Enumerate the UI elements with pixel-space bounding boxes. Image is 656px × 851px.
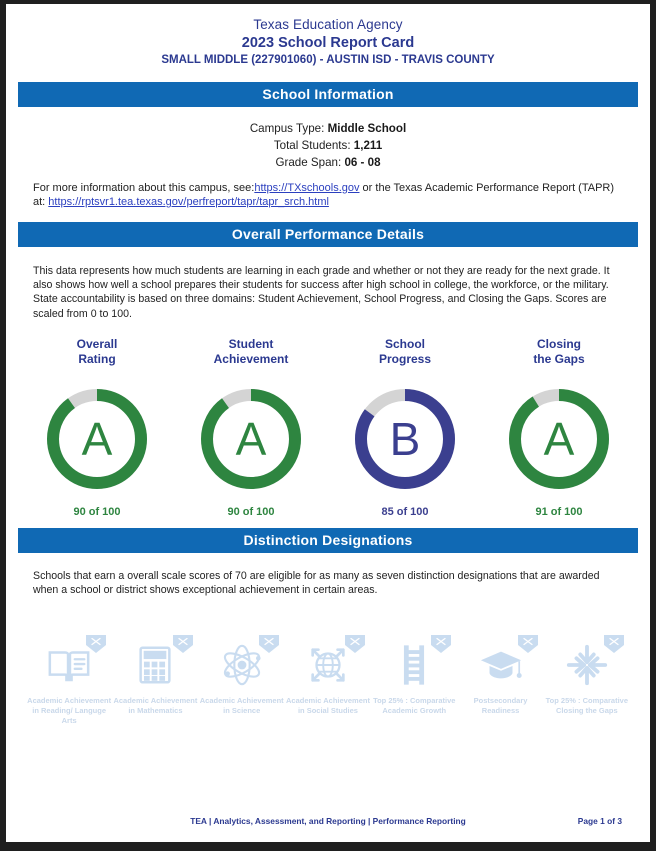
total-students-row: Total Students: 1,211 (6, 137, 650, 154)
gauge-donut: B (355, 389, 455, 489)
footer-page-number: Page 1 of 3 (578, 816, 622, 826)
gauge-label-line1: Student (174, 337, 328, 352)
ribbon-badge-icon (86, 635, 106, 662)
gauge-grade-letter: A (201, 389, 301, 489)
graduation-cap-icon (478, 642, 524, 688)
distinction-badge: Academic Achievement in Reading/ Languge… (26, 637, 112, 726)
gauge-label-line2: the Gaps (482, 352, 636, 367)
gauge-label-line1: Overall (20, 337, 174, 352)
arrows-inward-icon (564, 642, 610, 688)
total-students-label: Total Students: (274, 139, 351, 152)
distinction-badge: Postsecondary Readiness (457, 637, 543, 726)
ribbon-badge-icon (431, 635, 451, 662)
more-info-prefix: For more information about this campus, … (33, 182, 254, 194)
badge-caption: Academic Achievement in Mathematics (112, 696, 198, 716)
section-header-school-information: School Information (18, 82, 638, 107)
ribbon-badge-icon (173, 635, 193, 662)
ribbon-badge-icon (518, 635, 538, 662)
gauge-2: StudentAchievementA90 of 100 (174, 337, 328, 518)
gauge-label-line2: Rating (20, 352, 174, 367)
gauge-donut: A (47, 389, 147, 489)
gauge-4: Closingthe GapsA91 of 100 (482, 337, 636, 518)
page-footer: TEA | Analytics, Assessment, and Reporti… (6, 816, 650, 830)
badge-caption: Academic Achievement in Reading/ Languge… (26, 696, 112, 726)
distinction-badge: Academic Achievement in Social Studies (285, 637, 371, 726)
globe-arrows-icon (305, 642, 351, 688)
footer-attribution: TEA | Analytics, Assessment, and Reporti… (6, 816, 650, 826)
ribbon-badge-icon (259, 635, 279, 662)
badge-icon-wrap (457, 637, 543, 693)
gauge-label-line2: Progress (328, 352, 482, 367)
gauge-donut: A (509, 389, 609, 489)
performance-gauges: OverallRatingA90 of 100StudentAchievemen… (6, 337, 650, 518)
badge-icon-wrap (285, 637, 371, 693)
gauge-score-text: 91 of 100 (482, 506, 636, 518)
badge-icon-wrap (26, 637, 112, 693)
txschools-link[interactable]: https://TXschools.gov (254, 182, 359, 194)
campus-type-value: Middle School (328, 122, 407, 135)
gauge-label-line1: Closing (482, 337, 636, 352)
overall-performance-description: This data represents how much students a… (33, 264, 623, 321)
gauge-grade-letter: B (355, 389, 455, 489)
gauge-label-line2: Achievement (174, 352, 328, 367)
ribbon-badge-icon (604, 635, 624, 662)
gauge-score-text: 85 of 100 (328, 506, 482, 518)
atom-icon (219, 642, 265, 688)
page-title: 2023 School Report Card (6, 34, 650, 52)
section-header-overall-performance: Overall Performance Details (18, 222, 638, 247)
distinction-badge-row: Academic Achievement in Reading/ Languge… (6, 637, 650, 726)
badge-caption: Top 25% : Comparative Academic Growth (371, 696, 457, 716)
distinction-description: Schools that earn a overall scale scores… (33, 569, 623, 597)
more-information-text: For more information about this campus, … (33, 181, 623, 209)
gauge-score-text: 90 of 100 (20, 506, 174, 518)
gauge-score-text: 90 of 100 (174, 506, 328, 518)
distinction-badge: Top 25% : Comparative Closing the Gaps (544, 637, 630, 726)
gauge-label: StudentAchievement (174, 337, 328, 369)
school-information-values: Campus Type: Middle School Total Student… (6, 120, 650, 171)
badge-caption: Top 25% : Comparative Closing the Gaps (544, 696, 630, 716)
badge-caption: Academic Achievement in Science (199, 696, 285, 716)
campus-subtitle: SMALL MIDDLE (227901060) - AUSTIN ISD - … (6, 53, 650, 68)
gauge-label: SchoolProgress (328, 337, 482, 369)
badge-icon-wrap (112, 637, 198, 693)
gauge-3: SchoolProgressB85 of 100 (328, 337, 482, 518)
gauge-donut: A (201, 389, 301, 489)
grade-span-row: Grade Span: 06 - 08 (6, 154, 650, 171)
campus-type-label: Campus Type: (250, 122, 325, 135)
badge-icon-wrap (371, 637, 457, 693)
section-header-distinction-designations: Distinction Designations (18, 528, 638, 553)
gauge-grade-letter: A (509, 389, 609, 489)
badge-icon-wrap (544, 637, 630, 693)
gauge-label: Closingthe Gaps (482, 337, 636, 369)
calculator-icon (132, 642, 178, 688)
open-book-icon (46, 642, 92, 688)
tapr-link[interactable]: https://rptsvr1.tea.texas.gov/perfreport… (48, 196, 329, 208)
document-title-block: Texas Education Agency 2023 School Repor… (6, 4, 650, 68)
grade-span-label: Grade Span: (275, 156, 341, 169)
badge-icon-wrap (199, 637, 285, 693)
gauge-label: OverallRating (20, 337, 174, 369)
ribbon-badge-icon (345, 635, 365, 662)
agency-name: Texas Education Agency (6, 16, 650, 33)
gauge-label-line1: School (328, 337, 482, 352)
grade-span-value: 06 - 08 (344, 156, 380, 169)
campus-type-row: Campus Type: Middle School (6, 120, 650, 137)
badge-caption: Academic Achievement in Social Studies (285, 696, 371, 716)
gauge-1: OverallRatingA90 of 100 (20, 337, 174, 518)
badge-caption: Postsecondary Readiness (457, 696, 543, 716)
report-page: Texas Education Agency 2023 School Repor… (6, 4, 650, 842)
ladder-icon (391, 642, 437, 688)
total-students-value: 1,211 (354, 139, 382, 152)
distinction-badge: Academic Achievement in Science (199, 637, 285, 726)
distinction-badge: Academic Achievement in Mathematics (112, 637, 198, 726)
distinction-badge: Top 25% : Comparative Academic Growth (371, 637, 457, 726)
gauge-grade-letter: A (47, 389, 147, 489)
